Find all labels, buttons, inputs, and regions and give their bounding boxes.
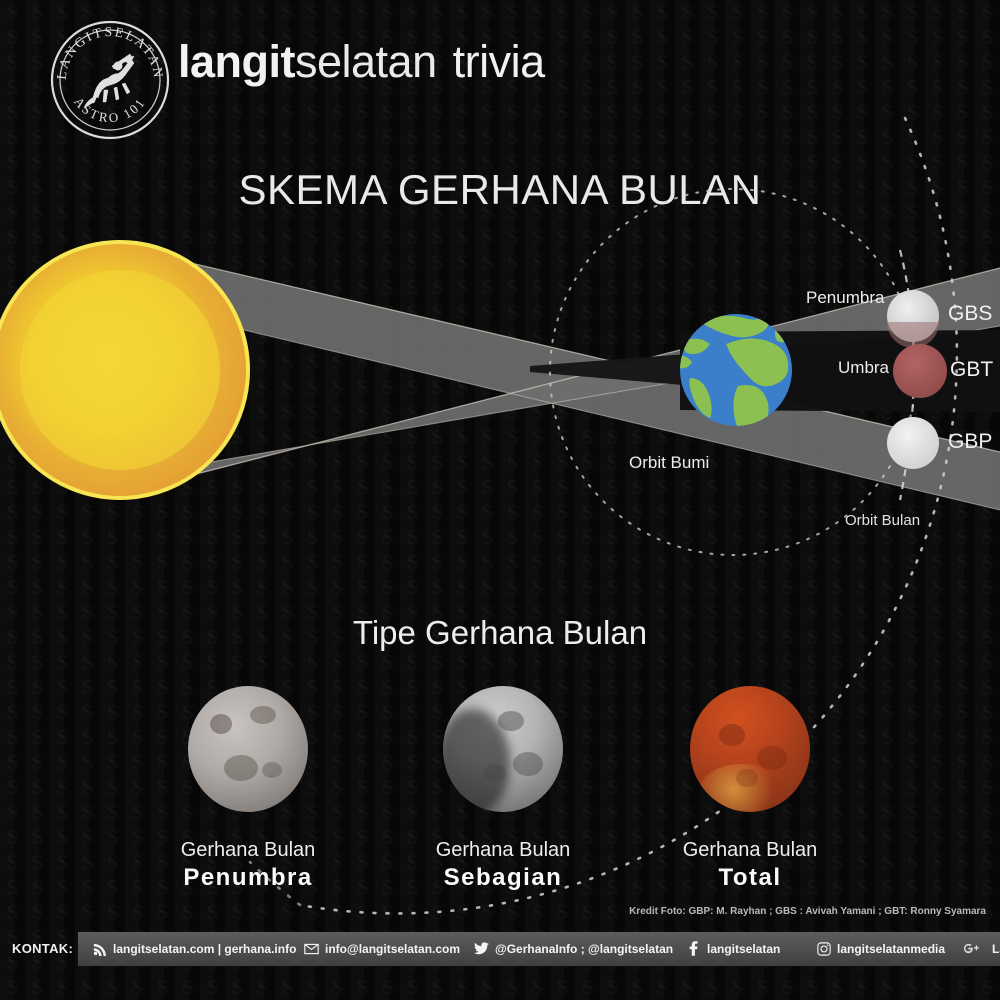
type-caption-line1: Gerhana Bulan [436, 839, 571, 861]
moon-photo-penumbral [188, 686, 308, 812]
type-caption-penumbra: Gerhana Bulan Penumbra [128, 838, 368, 893]
moon-code-gbs: GBS [948, 302, 992, 326]
kontak-label: KONTAK: [12, 941, 73, 956]
moon-photo-partial [443, 686, 563, 812]
googleplus-icon [962, 941, 986, 956]
mail-icon [304, 941, 319, 956]
footer-item-twitter[interactable]: @GerhanaInfo ; @langitselatan [474, 941, 673, 956]
moon-code-gbt: GBT [950, 358, 993, 382]
instagram-icon [816, 941, 831, 956]
type-caption-line2: Penumbra [128, 863, 368, 893]
footer-item-label: @GerhanaInfo ; @langitselatan [495, 942, 673, 956]
footer-item-instagram[interactable]: langitselatanmedia [816, 941, 945, 956]
section-title: Tipe Gerhana Bulan [0, 614, 1000, 652]
type-caption-sebagian: Gerhana Bulan Sebagian [383, 838, 623, 893]
twitter-icon [474, 941, 489, 956]
type-caption-line2: Sebagian [383, 863, 623, 893]
footer-item-label: langitselatan.com | gerhana.info [113, 942, 296, 956]
rss-icon [92, 941, 107, 956]
footer-item-label: langitselatan [707, 942, 780, 956]
moon-photo-total [690, 686, 810, 812]
type-caption-total: Gerhana Bulan Total [630, 838, 870, 893]
umbra-label: Umbra [838, 358, 889, 378]
type-caption-line2: Total [630, 863, 870, 893]
footer-item-label: info@langitselatan.com [325, 942, 460, 956]
type-card-total: Gerhana Bulan Total [630, 686, 870, 893]
type-card-penumbra: Gerhana Bulan Penumbra [128, 686, 368, 893]
facebook-icon [686, 941, 701, 956]
footer-item-googleplus[interactable]: LangitselatanMedia [962, 941, 1000, 956]
footer-item-facebook[interactable]: langitselatan [686, 941, 780, 956]
penumbra-label: Penumbra [806, 288, 884, 308]
type-caption-line1: Gerhana Bulan [683, 839, 818, 861]
moon-code-gbp: GBP [948, 430, 992, 454]
orbit-bumi-label: Orbit Bumi [629, 453, 709, 473]
footer-bar: langitselatan.com | gerhana.info info@la… [78, 932, 1000, 966]
footer-item-label: LangitselatanMedia [992, 942, 1000, 956]
orbit-bulan-label: Orbit Bulan [845, 512, 920, 529]
footer-item-website[interactable]: langitselatan.com | gerhana.info [92, 941, 296, 956]
type-card-sebagian: Gerhana Bulan Sebagian [383, 686, 623, 893]
type-caption-line1: Gerhana Bulan [181, 839, 316, 861]
infographic-page: SSSSSSSSSSSSSSSSSSSSSSSSSSSSSSSSSSSSSSSS… [0, 0, 1000, 1000]
footer-item-email[interactable]: info@langitselatan.com [304, 941, 460, 956]
footer-item-label: langitselatanmedia [837, 942, 945, 956]
footer: KONTAK: langitselatan.com | gerhana.info [0, 932, 1000, 966]
photo-credits: Kredit Foto: GBP: M. Rayhan ; GBS : Aviv… [629, 906, 986, 917]
